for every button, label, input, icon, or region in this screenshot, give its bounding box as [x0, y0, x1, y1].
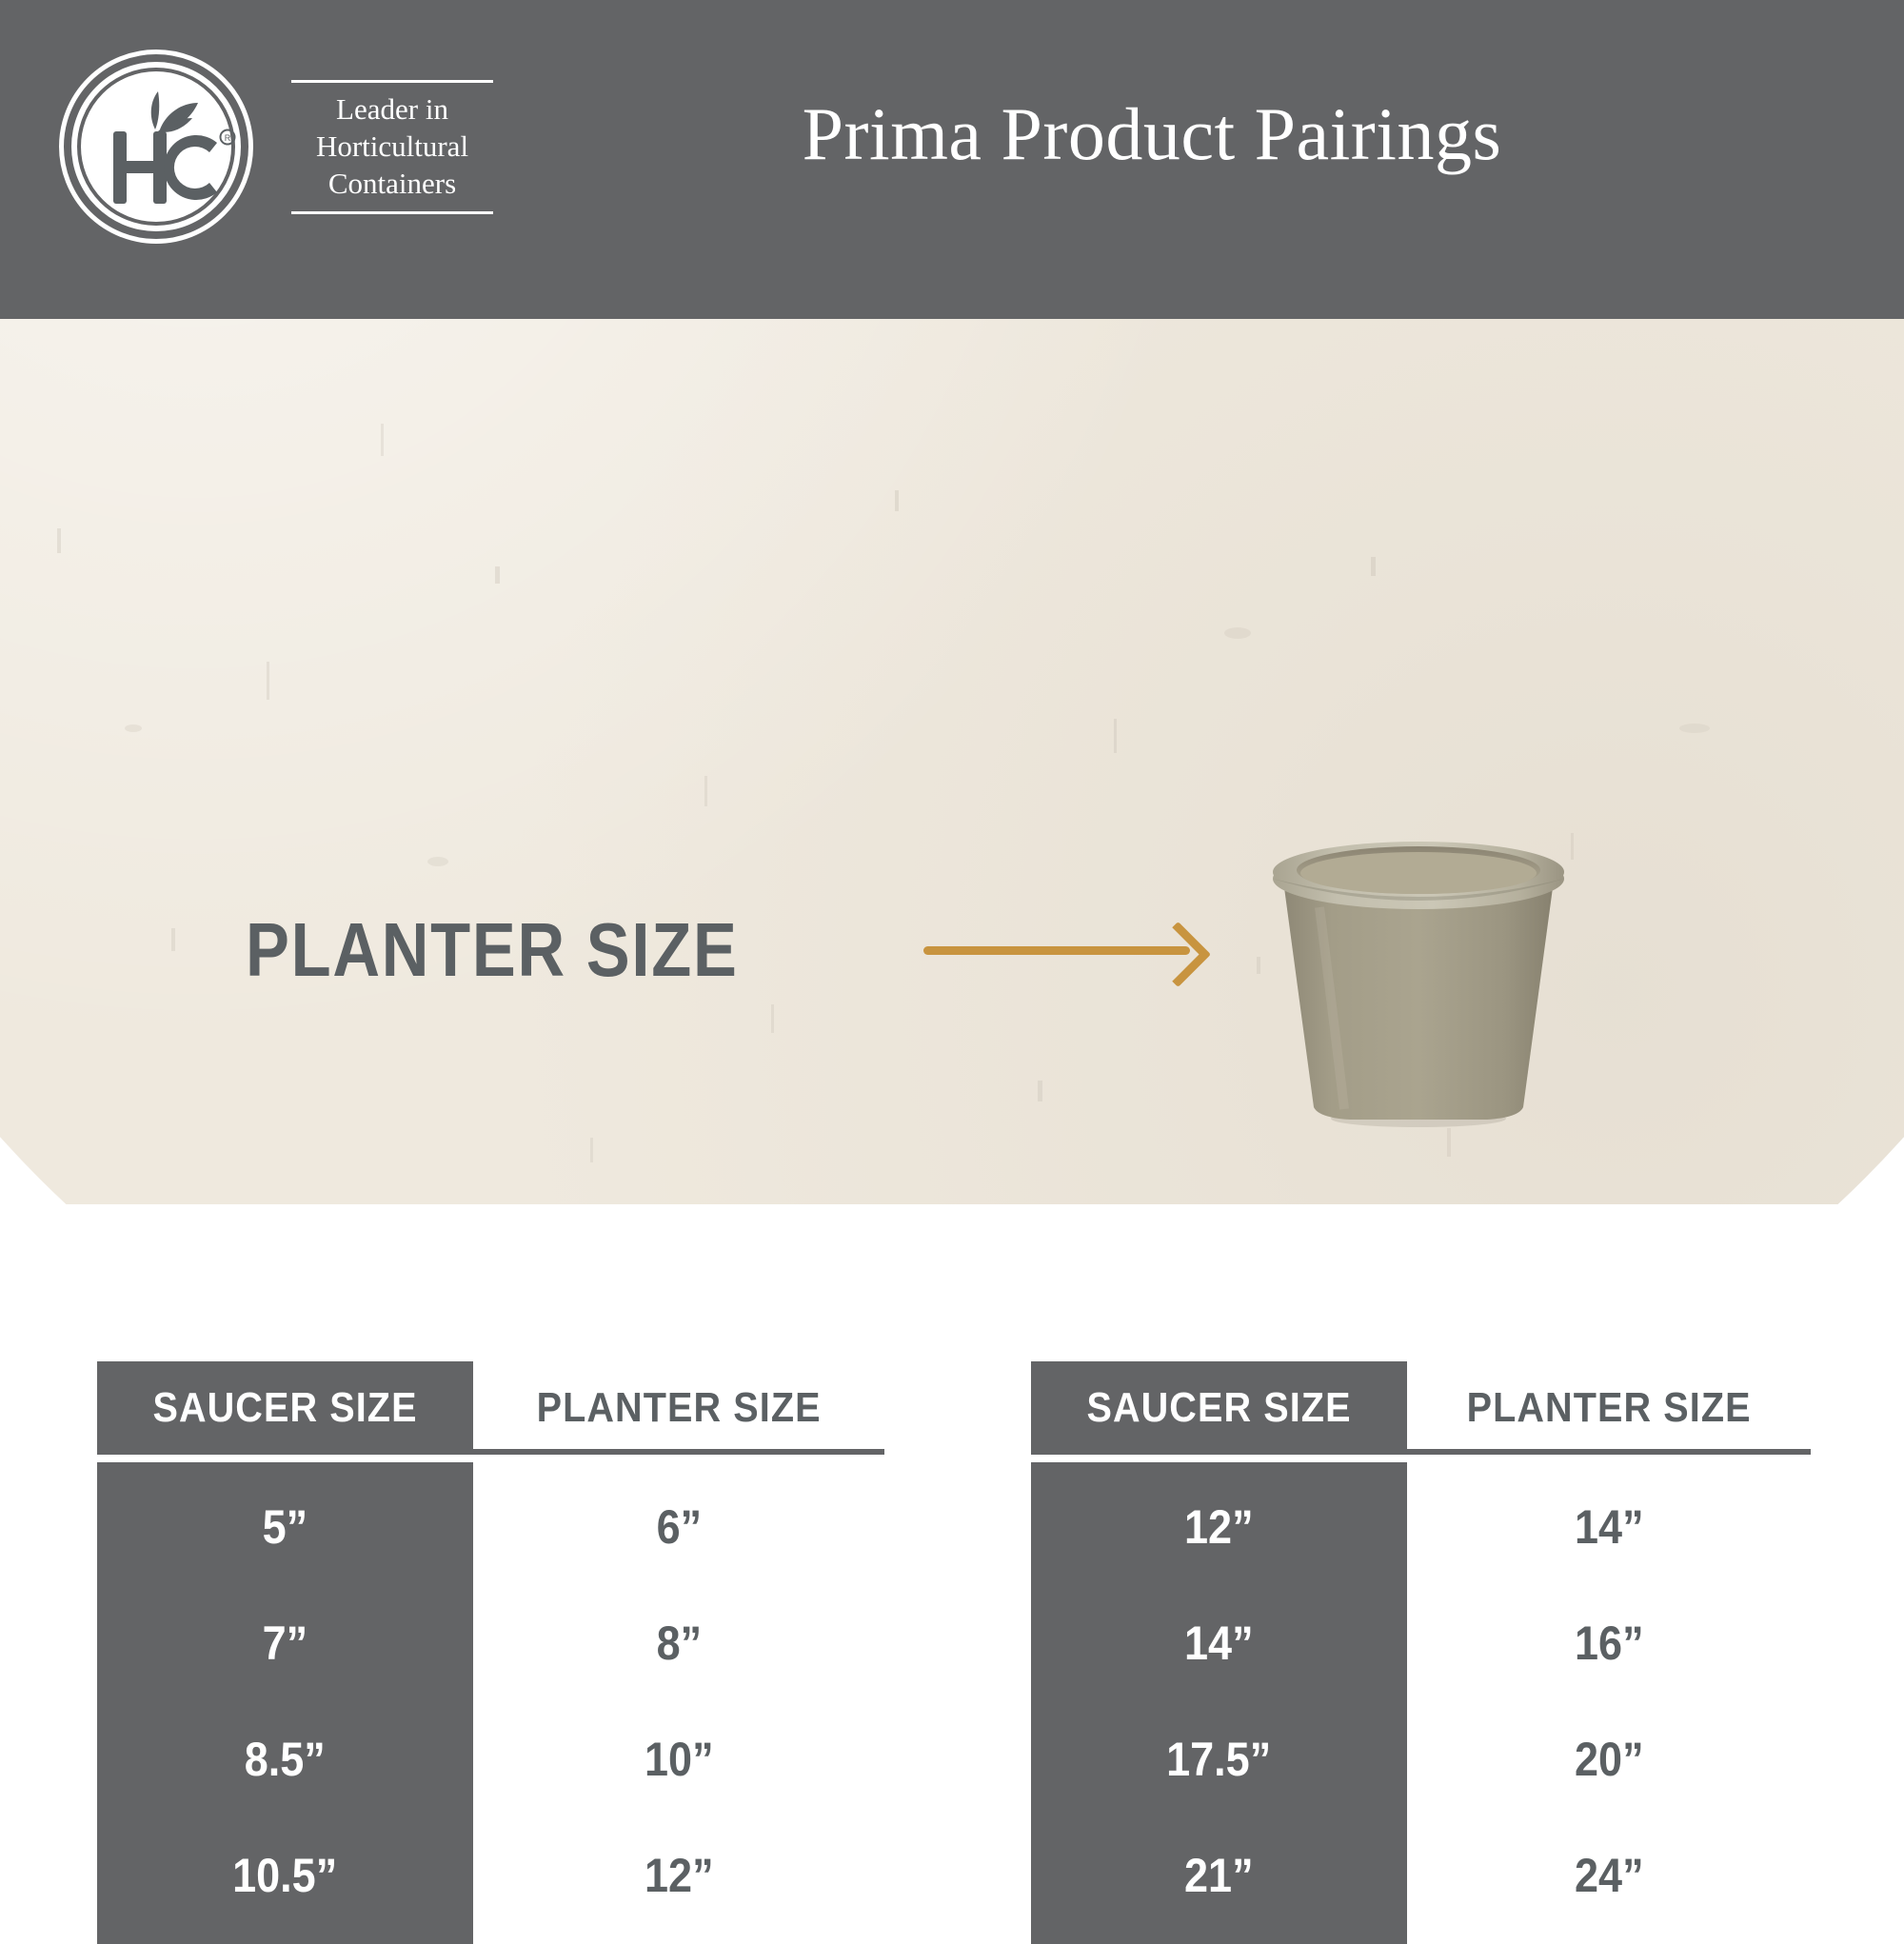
table-row: 21” — [1031, 1832, 1407, 1919]
hero-background — [0, 319, 1904, 1204]
saucer-dish-icon — [1233, 1190, 1609, 1204]
table-row: 12” — [473, 1832, 884, 1919]
table-row: 20” — [1407, 1716, 1811, 1803]
hero-panel: PLANTER SIZE SAUCER SIZE — [0, 319, 1904, 1204]
table-right-pad-top-saucer — [1031, 1462, 1407, 1483]
table-left-row-gap-saucer — [97, 1571, 473, 1599]
table-left-row-gap-planter — [473, 1803, 884, 1832]
table-left-row-gap-planter — [473, 1571, 884, 1599]
table-left-pad-bottom-saucer — [97, 1919, 473, 1944]
table-right-header-planter: PLANTER SIZE — [1407, 1361, 1811, 1455]
table-left-header-gap-planter — [473, 1455, 884, 1462]
table-row: 14” — [1031, 1599, 1407, 1687]
table-row: 24” — [1407, 1832, 1811, 1919]
table-row: 8.5” — [97, 1716, 473, 1803]
table-right-pad-bottom-planter — [1407, 1919, 1811, 1944]
table-left-header-saucer: SAUCER SIZE — [97, 1361, 473, 1455]
saucer-size-label: SAUCER SIZE — [286, 1188, 744, 1204]
table-row: 7” — [97, 1599, 473, 1687]
table-row: 12” — [1031, 1483, 1407, 1571]
planter-pot-icon — [1238, 831, 1599, 1136]
table-row: 17.5” — [1031, 1716, 1407, 1803]
header-bar: R Leader in Horticultural Containers Pri… — [0, 0, 1904, 319]
pairings-table-left: SAUCER SIZE PLANTER SIZE 5” 6” 7” 8” 8.5… — [97, 1361, 884, 1944]
table-left-row-gap-saucer — [97, 1803, 473, 1832]
table-row: 5” — [97, 1483, 473, 1571]
table-left-row-gap-planter — [473, 1687, 884, 1716]
table-right-row-gap-saucer — [1031, 1571, 1407, 1599]
table-left-pad-bottom-planter — [473, 1919, 884, 1944]
table-row: 14” — [1407, 1483, 1811, 1571]
table-left-row-gap-saucer — [97, 1687, 473, 1716]
table-row: 16” — [1407, 1599, 1811, 1687]
table-row: 6” — [473, 1483, 884, 1571]
table-left-header-gap-saucer — [97, 1455, 473, 1462]
table-left-pad-top-saucer — [97, 1462, 473, 1483]
table-right-header-gap-saucer — [1031, 1455, 1407, 1462]
table-row: 10.5” — [97, 1832, 473, 1919]
table-right-row-gap-planter — [1407, 1687, 1811, 1716]
table-right-row-gap-saucer — [1031, 1803, 1407, 1832]
pairings-table-right: SAUCER SIZE PLANTER SIZE 12” 14” 14” 16”… — [1031, 1361, 1811, 1944]
table-row: 10” — [473, 1716, 884, 1803]
table-right-header-gap-planter — [1407, 1455, 1811, 1462]
table-right-row-gap-planter — [1407, 1803, 1811, 1832]
table-right-pad-top-planter — [1407, 1462, 1811, 1483]
table-right-header-saucer: SAUCER SIZE — [1031, 1361, 1407, 1455]
table-right-row-gap-planter — [1407, 1571, 1811, 1599]
planter-size-label: PLANTER SIZE — [246, 906, 739, 994]
table-right-row-gap-saucer — [1031, 1687, 1407, 1716]
table-row: 8” — [473, 1599, 884, 1687]
page-title: Prima Product Pairings — [0, 91, 1904, 177]
table-left-header-planter: PLANTER SIZE — [473, 1361, 884, 1455]
table-left-pad-top-planter — [473, 1462, 884, 1483]
texture-speckles — [0, 319, 1904, 1204]
table-right-pad-bottom-saucer — [1031, 1919, 1407, 1944]
